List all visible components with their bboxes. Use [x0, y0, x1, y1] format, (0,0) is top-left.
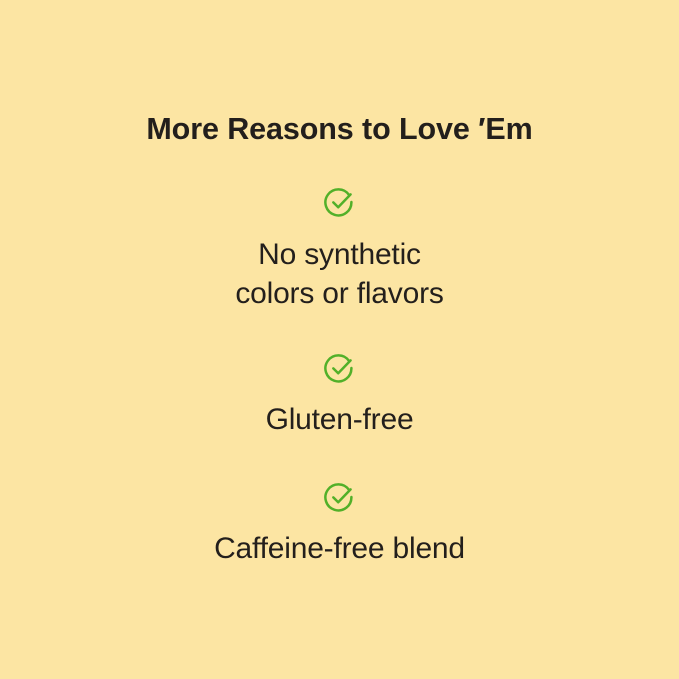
benefit-label: Caffeine-free blend — [214, 529, 465, 568]
check-circle-icon — [324, 481, 356, 513]
benefit-label: Gluten-free — [266, 400, 414, 439]
page-title: More Reasons to Love ′Em — [0, 113, 679, 147]
check-circle-icon — [324, 186, 356, 218]
benefit-item: Caffeine-free blend — [0, 481, 679, 568]
benefits-list: No synthetic colors or flavors Gluten-fr… — [0, 186, 679, 568]
benefit-label: No synthetic colors or flavors — [235, 235, 443, 313]
check-circle-icon — [324, 352, 356, 384]
benefit-item: No synthetic colors or flavors — [0, 186, 679, 313]
benefits-panel: More Reasons to Love ′Em No synthetic co… — [0, 0, 679, 679]
benefit-item: Gluten-free — [0, 352, 679, 439]
